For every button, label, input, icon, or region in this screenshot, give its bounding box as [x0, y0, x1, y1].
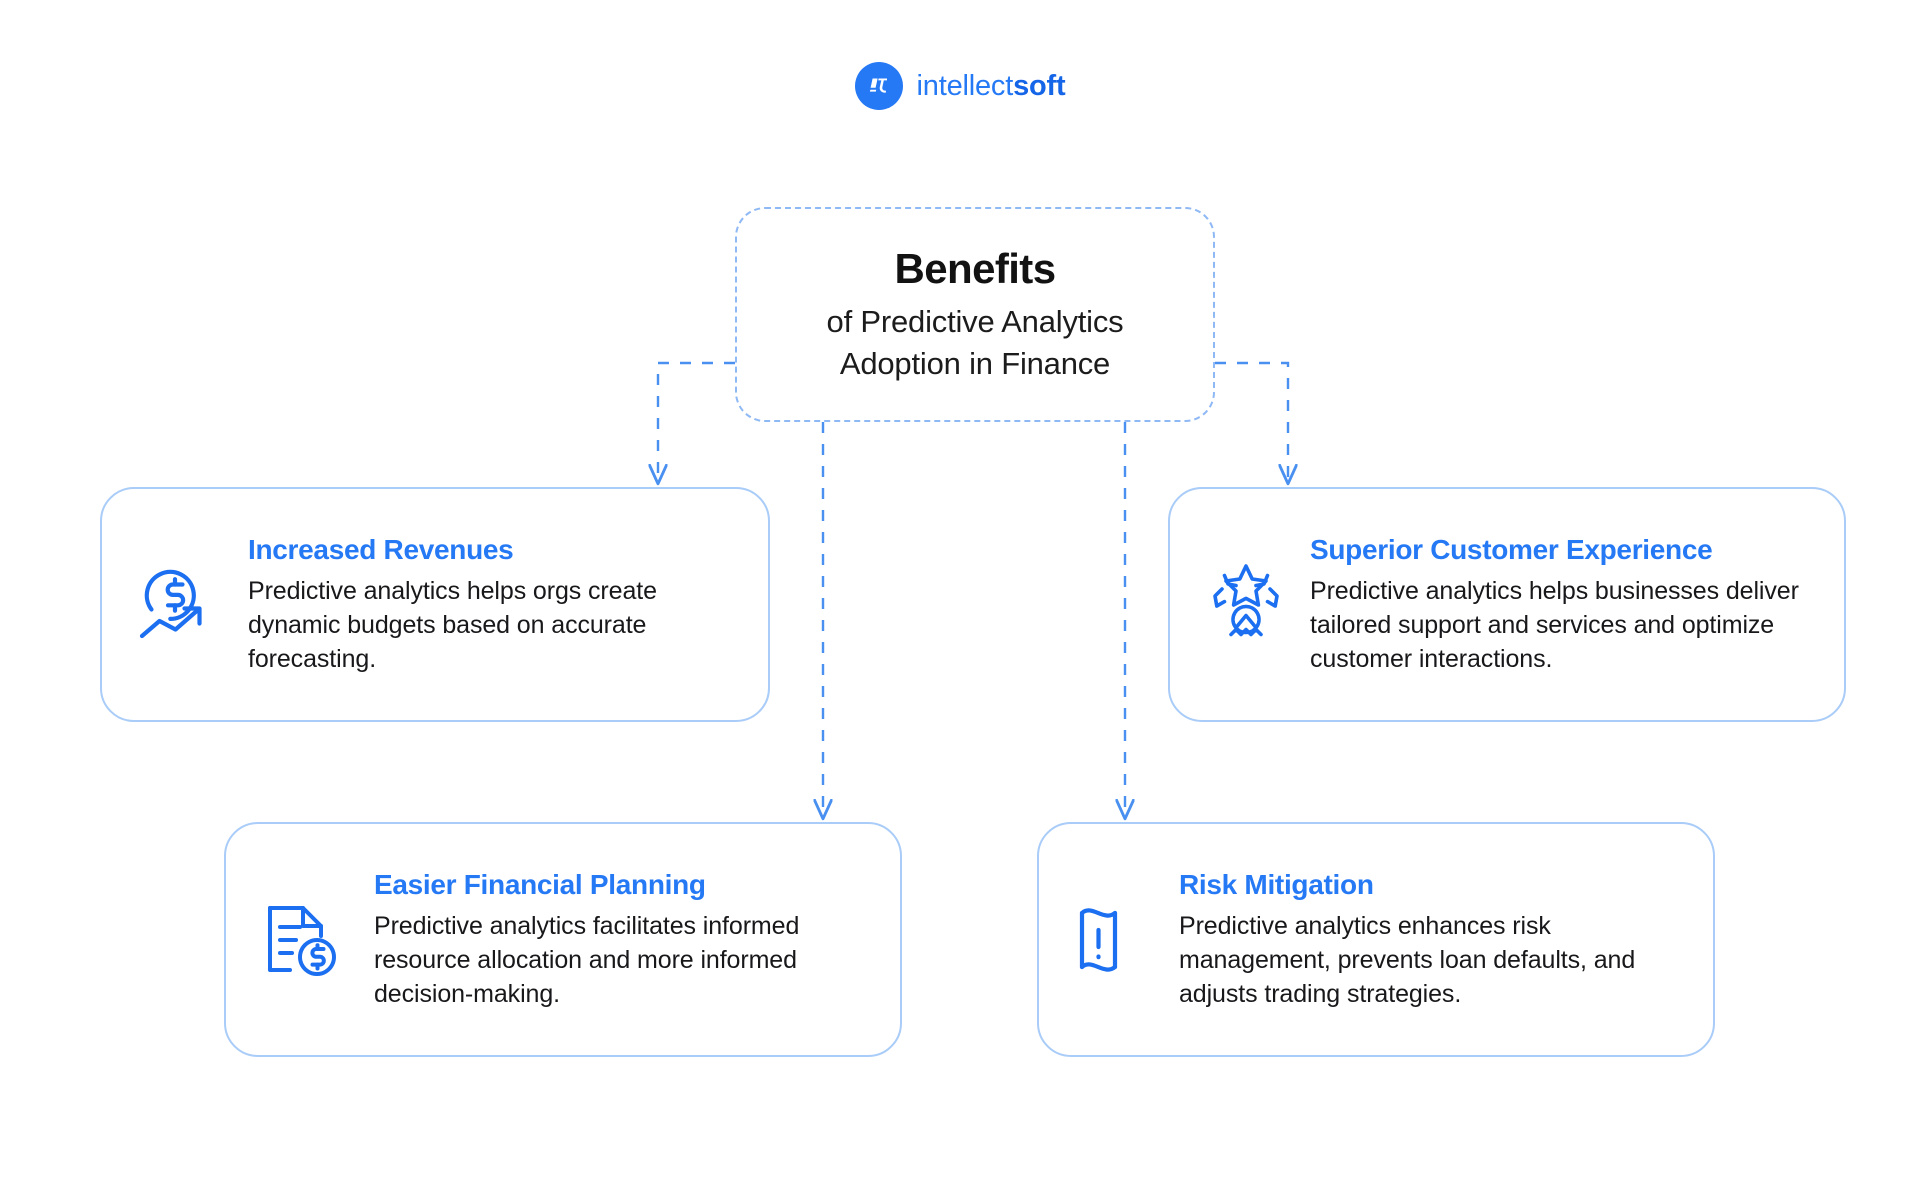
- card-title: Easier Financial Planning: [374, 868, 870, 901]
- card-body: Superior Customer Experience Predictive …: [1310, 533, 1814, 675]
- connector-to-superior-cx: [1215, 363, 1288, 482]
- flag-alert-icon: [1069, 894, 1161, 986]
- card-description: Predictive analytics facilitates informe…: [374, 909, 870, 1011]
- hub-benefits-box: Benefits of Predictive Analytics Adoptio…: [735, 207, 1215, 422]
- card-description: Predictive analytics enhances risk manag…: [1179, 909, 1683, 1011]
- document-dollar-icon: [256, 894, 348, 986]
- card-title: Risk Mitigation: [1179, 868, 1683, 901]
- brand-name-bold: soft: [1013, 70, 1065, 102]
- connector-to-increased-revenues: [658, 363, 735, 482]
- intellectsoft-logo-icon: [855, 62, 903, 110]
- stars-award-badge-icon: [1200, 559, 1292, 651]
- infographic-canvas: intellectsoft Benefits of Predictive Ana…: [0, 0, 1920, 1184]
- benefit-card-increased-revenues[interactable]: Increased Revenues Predictive analytics …: [100, 487, 770, 722]
- dollar-growth-arrow-icon: [132, 559, 224, 651]
- benefit-card-easier-financial-planning[interactable]: Easier Financial Planning Predictive ana…: [224, 822, 902, 1057]
- hub-subtitle: of Predictive Analytics Adoption in Fina…: [763, 301, 1187, 383]
- hub-title: Benefits: [895, 245, 1056, 292]
- card-description: Predictive analytics helps businesses de…: [1310, 574, 1814, 676]
- card-title: Superior Customer Experience: [1310, 533, 1814, 566]
- benefit-card-risk-mitigation[interactable]: Risk Mitigation Predictive analytics enh…: [1037, 822, 1715, 1057]
- brand-name-light: intellect: [917, 70, 1014, 102]
- card-description: Predictive analytics helps orgs create d…: [248, 574, 738, 676]
- benefit-card-superior-customer-experience[interactable]: Superior Customer Experience Predictive …: [1168, 487, 1846, 722]
- brand-wordmark: intellectsoft: [917, 72, 1066, 101]
- card-body: Risk Mitigation Predictive analytics enh…: [1179, 868, 1683, 1010]
- card-title: Increased Revenues: [248, 533, 738, 566]
- card-body: Increased Revenues Predictive analytics …: [242, 533, 738, 675]
- brand-logo: intellectsoft: [0, 62, 1920, 110]
- card-body: Easier Financial Planning Predictive ana…: [366, 868, 870, 1010]
